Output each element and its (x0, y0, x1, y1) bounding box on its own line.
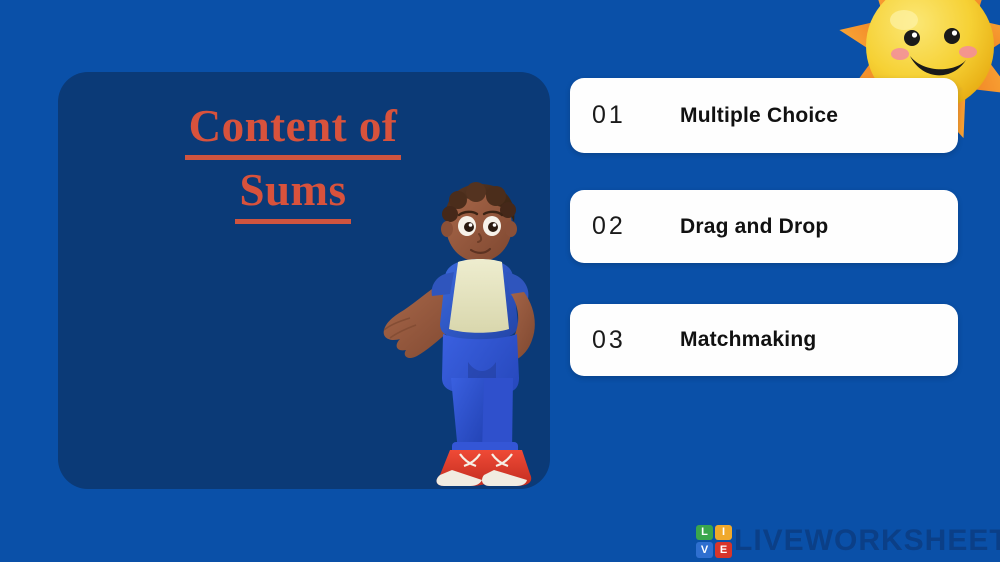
slide-canvas: Content of Sums (0, 0, 1000, 562)
list-item-label: Multiple Choice (680, 104, 838, 128)
right-shoe (482, 450, 531, 486)
logo-tile-l: L (696, 525, 713, 541)
sun-right-cheek (959, 46, 977, 58)
list-item-02[interactable]: 02 Drag and Drop (570, 190, 958, 263)
standing-boy-character-illustration (372, 182, 592, 494)
liveworksheets-watermark: L I V E LIVEWORKSHEETS (696, 521, 992, 561)
logo-tile-i: I (715, 525, 732, 541)
logo-tile-v: V (696, 542, 713, 558)
liveworksheets-logo-icon: L I V E (696, 525, 732, 558)
sun-left-cheek (891, 48, 909, 60)
list-item-number: 01 (570, 101, 680, 130)
sun-right-eye (944, 28, 960, 44)
list-item-label: Matchmaking (680, 328, 816, 352)
list-item-number: 03 (570, 326, 680, 355)
sun-left-eye (904, 30, 920, 46)
page-title-line-1: Content of (189, 96, 398, 160)
logo-tile-e: E (715, 542, 732, 558)
list-item-number: 02 (570, 212, 680, 241)
watermark-text: LIVEWORKSHEETS (734, 524, 1000, 558)
list-item-label: Drag and Drop (680, 215, 828, 239)
list-item-03[interactable]: 03 Matchmaking (570, 304, 958, 376)
list-item-01[interactable]: 01 Multiple Choice (570, 78, 958, 153)
page-title-line-2: Sums (239, 160, 346, 224)
shirt-front-panel (449, 259, 509, 333)
